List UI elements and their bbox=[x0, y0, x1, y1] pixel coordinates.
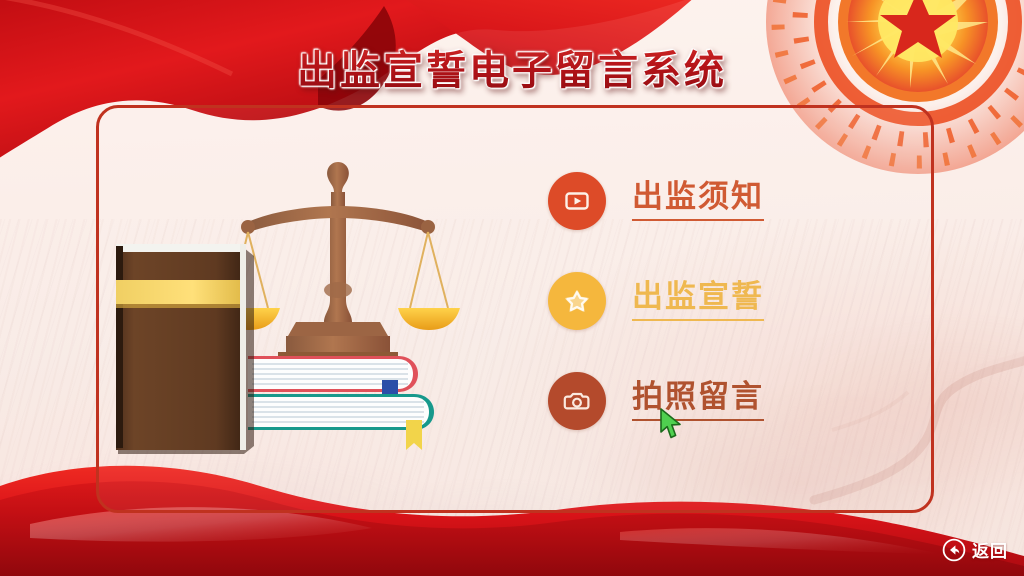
app-screen: 出监宣誓电子留言系统 bbox=[0, 0, 1024, 576]
green-arrow-cursor bbox=[658, 408, 684, 440]
stacked-books bbox=[248, 356, 434, 450]
menu-item-release-oath[interactable]: 出监宣誓 bbox=[548, 270, 878, 332]
main-menu: 出监须知 出监宣誓 拍照留言 bbox=[548, 170, 878, 432]
menu-item-label: 出监宣誓 bbox=[632, 281, 764, 321]
back-button[interactable]: 返回 bbox=[942, 537, 1008, 562]
menu-item-label: 出监须知 bbox=[632, 181, 764, 221]
yellow-bookmark bbox=[406, 420, 422, 450]
video-play-icon[interactable] bbox=[548, 172, 606, 230]
menu-item-release-notice[interactable]: 出监须知 bbox=[548, 170, 878, 232]
star-icon[interactable] bbox=[548, 272, 606, 330]
balance-scale bbox=[218, 162, 460, 364]
back-button-label: 返回 bbox=[972, 537, 1008, 562]
justice-illustration bbox=[110, 140, 470, 470]
page-title: 出监宣誓电子留言系统 bbox=[291, 36, 733, 98]
back-arrow-circle-icon[interactable] bbox=[942, 538, 966, 562]
page-title-container: 出监宣誓电子留言系统 bbox=[0, 36, 1024, 98]
menu-item-label: 拍照留言 bbox=[632, 381, 764, 421]
camera-icon[interactable] bbox=[548, 372, 606, 430]
law-book bbox=[116, 244, 254, 454]
menu-item-photo-message[interactable]: 拍照留言 bbox=[548, 370, 878, 432]
